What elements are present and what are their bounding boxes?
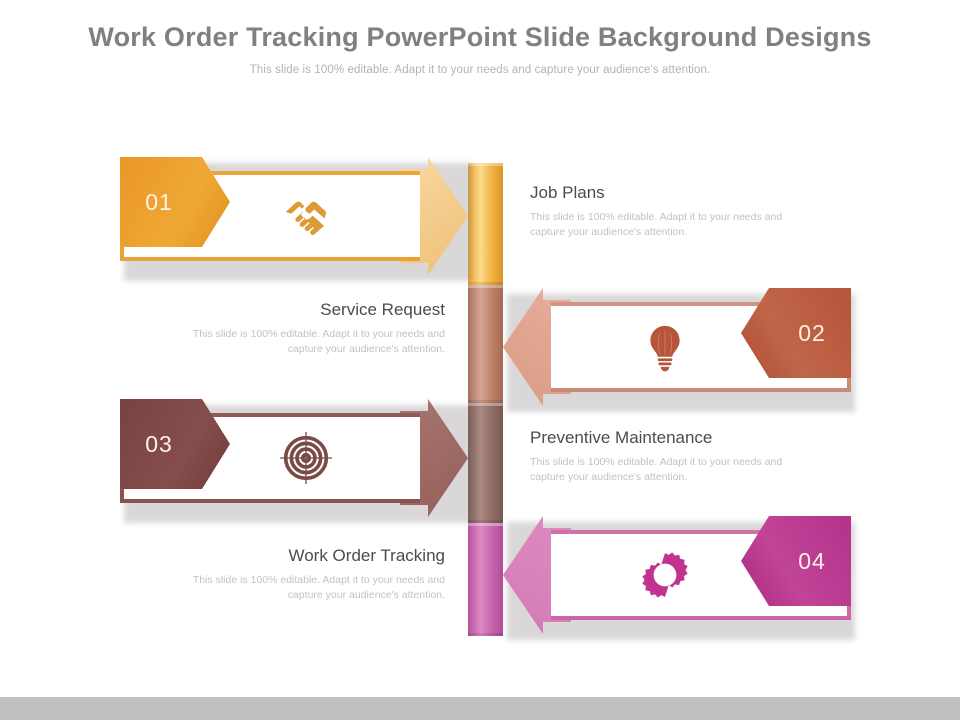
- spine-segment-4: [468, 523, 503, 636]
- page-title: Work Order Tracking PowerPoint Slide Bac…: [0, 22, 960, 53]
- lightbulb-icon: [639, 321, 691, 373]
- step-text-2: Service Request This slide is 100% edita…: [155, 300, 445, 357]
- footer-bar: [0, 697, 960, 720]
- step-number-4: 04: [773, 516, 851, 606]
- step-description-4: This slide is 100% editable. Adapt it to…: [155, 573, 445, 603]
- step-description-1: This slide is 100% editable. Adapt it to…: [530, 210, 820, 240]
- handshake-icon: [280, 190, 332, 242]
- step-heading-4: Work Order Tracking: [155, 546, 445, 566]
- step-arrow-1[interactable]: 01: [120, 157, 468, 275]
- step-text-4: Work Order Tracking This slide is 100% e…: [155, 546, 445, 603]
- spine-segment-1: [468, 163, 503, 285]
- target-icon: [280, 432, 332, 484]
- step-heading-2: Service Request: [155, 300, 445, 320]
- step-arrow-4[interactable]: 04: [503, 516, 851, 634]
- spine-segment-2: [468, 285, 503, 403]
- step-arrow-3[interactable]: 03: [120, 399, 468, 517]
- step-text-1: Job Plans This slide is 100% editable. A…: [530, 183, 820, 240]
- step-number-2: 02: [773, 288, 851, 378]
- center-spine: [468, 163, 503, 636]
- step-description-3: This slide is 100% editable. Adapt it to…: [530, 455, 820, 485]
- slide-canvas: Work Order Tracking PowerPoint Slide Bac…: [0, 0, 960, 720]
- step-description-2: This slide is 100% editable. Adapt it to…: [155, 327, 445, 357]
- step-text-3: Preventive Maintenance This slide is 100…: [530, 428, 820, 485]
- spine-segment-3: [468, 403, 503, 523]
- page-subtitle: This slide is 100% editable. Adapt it to…: [0, 64, 960, 76]
- step-number-3: 03: [120, 399, 198, 489]
- step-heading-1: Job Plans: [530, 183, 820, 203]
- step-heading-3: Preventive Maintenance: [530, 428, 820, 448]
- step-number-1: 01: [120, 157, 198, 247]
- step-arrow-2[interactable]: 02: [503, 288, 851, 406]
- gear-icon: [639, 549, 691, 601]
